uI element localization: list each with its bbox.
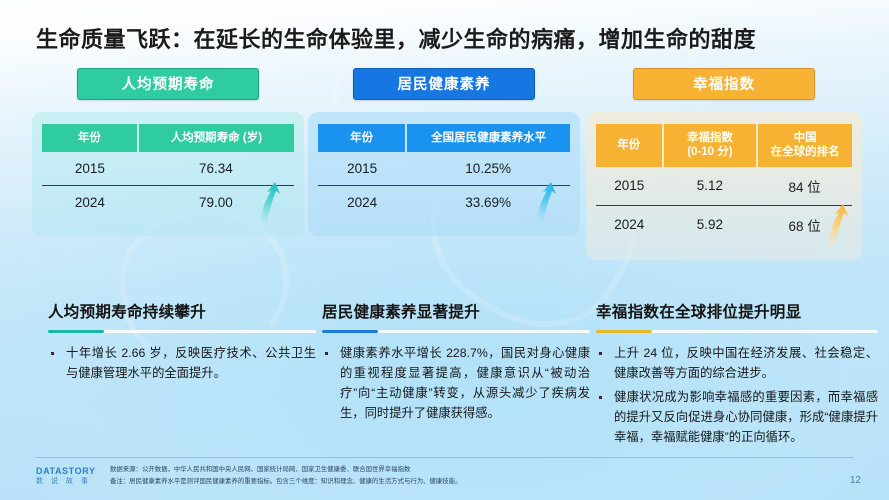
- metric-panel: 年份 全国居民健康素养水平 2015 10.25% 2024 33.69%: [308, 112, 580, 236]
- accent-rule: [48, 330, 316, 333]
- header-line-2: 在全球的排名: [771, 146, 840, 158]
- accent-rule: [596, 330, 878, 333]
- table-row: 2015 5.12 84 位: [596, 167, 852, 206]
- table-cell-value: 33.69%: [406, 186, 570, 220]
- accent-rule: [322, 330, 590, 333]
- table-cell-year: 2015: [596, 167, 663, 206]
- page-number: 12: [850, 475, 861, 486]
- table-cell-year: 2024: [318, 186, 406, 220]
- metric-table: 年份 全国居民健康素养水平 2015 10.25% 2024 33.69%: [318, 124, 570, 219]
- metric-panel: 年份 幸福指数 (0-10 分) 中国 在全球的排名 2015: [586, 112, 862, 260]
- insight-bullet-list: 健康素养水平增长 228.7%，国民对身心健康的重视程度显著提高，健康意识从“被…: [322, 344, 590, 424]
- table-row: 2024 5.92 68 位: [596, 205, 852, 244]
- metric-table: 年份 幸福指数 (0-10 分) 中国 在全球的排名 2015: [596, 124, 852, 244]
- header-line-1: 中国: [794, 132, 817, 144]
- footnote-remark: 备注：居民健康素养水平是测评国民健康素养的重要指标。包含三个维度：知识和理念、健…: [110, 476, 810, 488]
- table-header-row: 年份 全国居民健康素养水平: [318, 124, 570, 152]
- table-header-cell: 中国 在全球的排名: [757, 124, 852, 167]
- table-cell-value: 10.25%: [406, 152, 570, 186]
- brand-logo: DATASTORY 数 说 故 事: [36, 467, 98, 486]
- table-cell-rank: 84 位: [757, 167, 852, 206]
- insight-bullet-list: 上升 24 位，反映中国在经济发展、社会稳定、健康改善等方面的综合进步。 健康状…: [596, 344, 878, 448]
- metric-table: 年份 人均预期寿命 (岁) 2015 76.34 2024 79.00: [42, 124, 294, 219]
- footnotes: 数据来源：公开数据，中华人民共和国中央人民网、国家统计局网、国家卫生健康委、联合…: [110, 464, 810, 488]
- table-cell-score: 5.92: [663, 205, 758, 244]
- insight-bullet-list: 十年增长 2.66 岁，反映医疗技术、公共卫生与健康管理水平的全面提升。: [48, 344, 316, 384]
- list-item: 健康素养水平增长 228.7%，国民对身心健康的重视程度显著提高，健康意识从“被…: [322, 344, 590, 424]
- table-row: 2015 10.25%: [318, 152, 570, 186]
- header-line-2: (0-10 分): [687, 146, 732, 158]
- insight-block-happiness-index: 幸福指数在全球排位提升明显 上升 24 位，反映中国在经济发展、社会稳定、健康改…: [596, 300, 878, 452]
- table-cell-score: 5.12: [663, 167, 758, 206]
- table-row: 2015 76.34: [42, 152, 294, 186]
- table-cell-year: 2015: [318, 152, 406, 186]
- metric-chip-label: 幸福指数: [633, 68, 815, 100]
- table-cell-year: 2024: [42, 186, 138, 220]
- insight-heading: 人均预期寿命持续攀升: [48, 300, 316, 322]
- table-header-cell: 人均预期寿命 (岁): [138, 124, 294, 152]
- table-header-cell: 年份: [596, 124, 663, 167]
- table-header-row: 年份 人均预期寿命 (岁): [42, 124, 294, 152]
- table-cell-year: 2024: [596, 205, 663, 244]
- insight-block-health-literacy: 居民健康素养显著提升 健康素养水平增长 228.7%，国民对身心健康的重视程度显…: [322, 300, 590, 428]
- table-cell-value: 76.34: [138, 152, 294, 186]
- table-cell-rank: 68 位: [757, 205, 852, 244]
- list-item: 健康状况成为影响幸福感的重要因素，而幸福感的提升又反向促进身心协同健康，形成“健…: [596, 388, 878, 448]
- table-row: 2024 33.69%: [318, 186, 570, 220]
- metric-chip-label: 人均预期寿命: [77, 68, 259, 100]
- footnote-source: 数据来源：公开数据，中华人民共和国中央人民网、国家统计局网、国家卫生健康委、联合…: [110, 464, 810, 476]
- table-cell-year: 2015: [42, 152, 138, 186]
- brand-logo-en: DATASTORY: [36, 467, 98, 477]
- metric-column-happiness-index: 幸福指数 年份 幸福指数 (0-10 分) 中国 在全球的排名: [586, 68, 862, 260]
- metric-panel: 年份 人均预期寿命 (岁) 2015 76.34 2024 79.00: [32, 112, 304, 236]
- table-header-row: 年份 幸福指数 (0-10 分) 中国 在全球的排名: [596, 124, 852, 167]
- list-item: 十年增长 2.66 岁，反映医疗技术、公共卫生与健康管理水平的全面提升。: [48, 344, 316, 384]
- slide-canvas: 生命质量飞跃：在延长的生命体验里，减少生命的病痛，增加生命的甜度 人均预期寿命 …: [0, 0, 889, 500]
- insight-heading: 幸福指数在全球排位提升明显: [596, 300, 878, 322]
- table-header-cell: 年份: [318, 124, 406, 152]
- table-cell-value: 79.00: [138, 186, 294, 220]
- insight-heading: 居民健康素养显著提升: [322, 300, 590, 322]
- metric-chip-label: 居民健康素养: [353, 68, 535, 100]
- insight-block-life-expectancy: 人均预期寿命持续攀升 十年增长 2.66 岁，反映医疗技术、公共卫生与健康管理水…: [48, 300, 316, 388]
- footer-divider: [36, 457, 853, 458]
- table-row: 2024 79.00: [42, 186, 294, 220]
- metric-column-health-literacy: 居民健康素养 年份 全国居民健康素养水平 2015 10.25% 2024: [308, 68, 580, 236]
- list-item: 上升 24 位，反映中国在经济发展、社会稳定、健康改善等方面的综合进步。: [596, 344, 878, 384]
- brand-logo-cn: 数 说 故 事: [36, 478, 98, 486]
- header-line-1: 幸福指数: [687, 132, 733, 144]
- slide-title: 生命质量飞跃：在延长的生命体验里，减少生命的病痛，增加生命的甜度: [36, 22, 756, 54]
- table-header-cell: 年份: [42, 124, 138, 152]
- metric-column-life-expectancy: 人均预期寿命 年份 人均预期寿命 (岁) 2015 76.34 2024: [32, 68, 304, 236]
- table-header-cell: 全国居民健康素养水平: [406, 124, 570, 152]
- table-header-cell: 幸福指数 (0-10 分): [663, 124, 758, 167]
